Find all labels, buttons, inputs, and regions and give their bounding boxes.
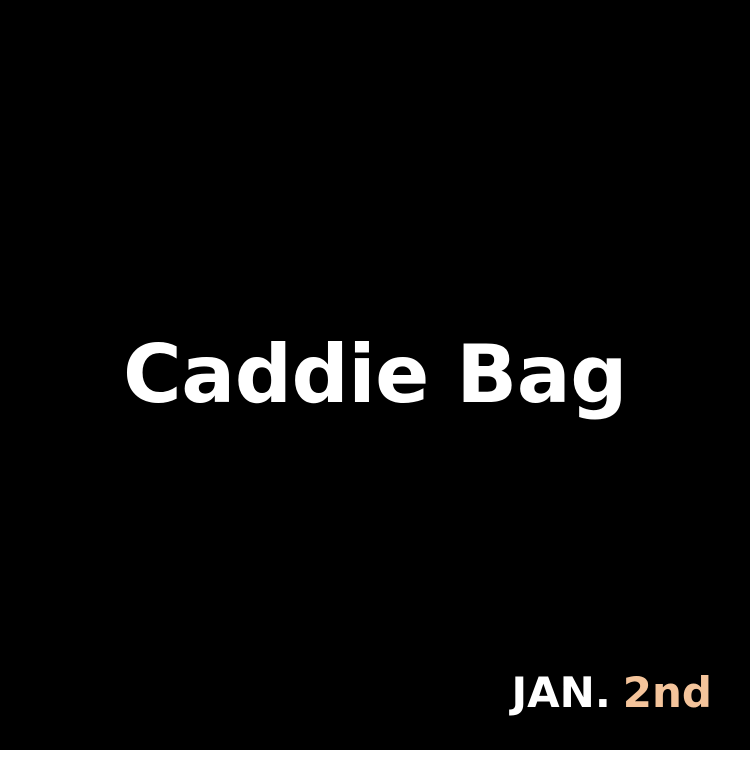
date-month-label: JAN. (512, 672, 611, 714)
title-block: Caddie Bag (0, 0, 750, 768)
date-line: JAN. 2nd (512, 672, 712, 714)
date-day-label: 2nd (623, 672, 712, 714)
title-card: Caddie Bag JAN. 2nd (0, 0, 750, 750)
page-title: Caddie Bag (123, 335, 627, 415)
